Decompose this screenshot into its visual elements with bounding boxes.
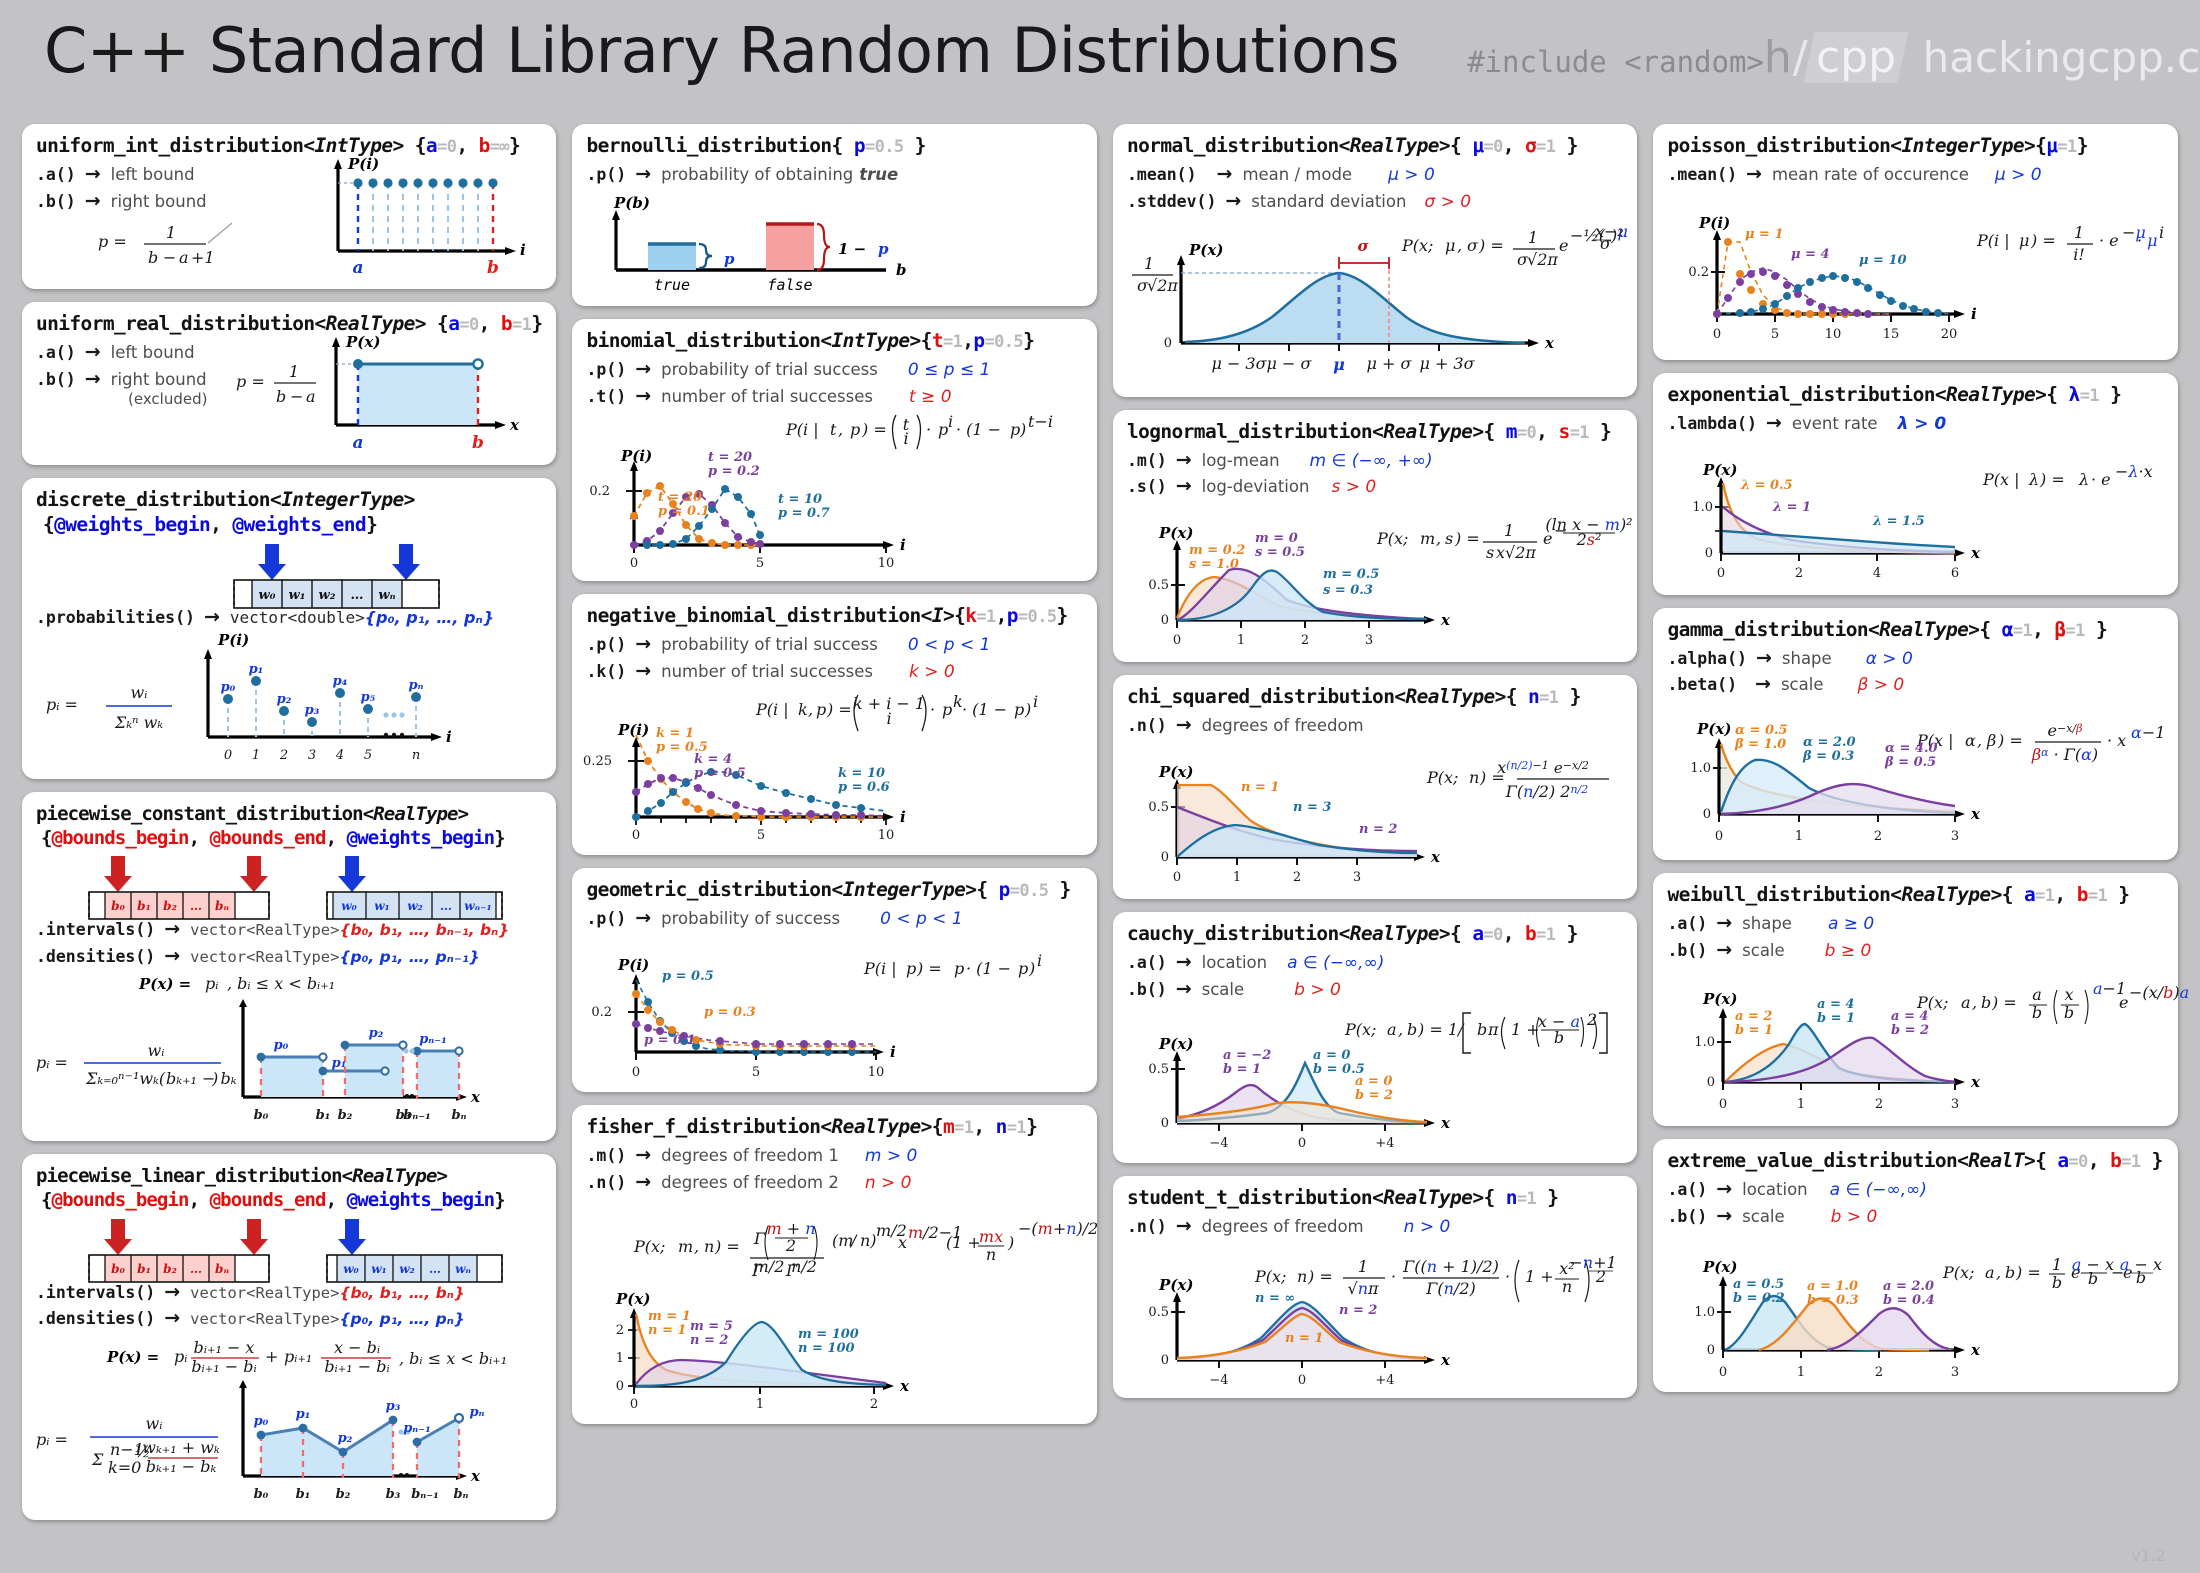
svg-text:P(x;: P(x;	[1254, 1267, 1286, 1286]
svg-text:t−i: t−i	[1028, 412, 1053, 431]
svg-text:wᵢ: wᵢ	[146, 1414, 163, 1433]
svg-text:) =: ) =	[2030, 231, 2056, 250]
card-uniform-real-distribution: uniform_real_distribution<RealType> {a=0…	[22, 302, 556, 465]
include-directive: #include <random>	[1467, 45, 1764, 79]
svg-text:true: true	[654, 276, 690, 294]
svg-text:p: p	[938, 420, 948, 439]
chart-binomial: P(i | t , p ) = t i · p i · (1 − p ) t−i	[586, 411, 1066, 571]
svg-text:b: b	[2032, 1003, 2042, 1022]
svg-text:k = 4: k = 4	[694, 752, 732, 767]
svg-text:0: 0	[1713, 327, 1721, 342]
chart-exponential: P(x | λ ) = λ · e −λ·x P(x) x 0 1.0	[1667, 439, 2152, 585]
card-weibull-distribution: weibull_distribution<RealType>{ a=1, b=1…	[1653, 873, 2178, 1126]
svg-text:x: x	[1430, 848, 1441, 866]
svg-text:1: 1	[289, 362, 299, 381]
svg-text:+: +	[265, 1347, 278, 1366]
svg-text:x − bᵢ: x − bᵢ	[334, 1338, 380, 1357]
svg-text:1: 1	[1144, 254, 1154, 273]
svg-text:1: 1	[1795, 829, 1803, 844]
svg-text:α = 4.0: α = 4.0	[1885, 741, 1938, 756]
svg-text:pᵢ =: pᵢ =	[36, 1430, 68, 1449]
svg-text:i: i	[1037, 951, 1042, 970]
svg-text:b₃: b₃	[386, 1487, 401, 1502]
svg-text:…: …	[440, 899, 452, 913]
svg-text:pᵢ: pᵢ	[174, 1347, 187, 1366]
svg-text:b: b	[148, 248, 158, 267]
svg-text:0: 0	[1717, 566, 1725, 581]
svg-text:μ: μ	[1333, 355, 1345, 374]
card-normal-distribution: normal_distribution<RealType>{ μ=0, σ=1 …	[1113, 124, 1638, 397]
card-student-t-distribution: student_t_distribution<RealType>{ n=1 } …	[1113, 1176, 1638, 1398]
svg-text:a = 4: a = 4	[1891, 1009, 1928, 1024]
svg-text:pᵢ =: pᵢ =	[36, 1053, 68, 1072]
svg-text:p₁: p₁	[249, 662, 264, 677]
svg-text:,: ,	[1977, 731, 1982, 750]
svg-text:λ: λ	[2078, 470, 2089, 489]
svg-text:k: k	[798, 700, 808, 719]
svg-text:x: x	[470, 1467, 481, 1485]
svg-text:P(i |: P(i |	[863, 959, 897, 978]
chart-cauchy: P(x; a , b ) = 1/ b π 1 + x − a b 2	[1127, 1001, 1612, 1153]
svg-text:p =: p =	[98, 232, 127, 251]
svg-text:5: 5	[364, 748, 372, 763]
chart-normal: P(x; μ , σ ) = 1 σ √2π e −½( x−μ σ )² P(…	[1127, 217, 1612, 387]
card-chi-squared-distribution: chi_squared_distribution<RealType>{ n=1 …	[1113, 675, 1638, 899]
svg-text:−λ·x: −λ·x	[2115, 462, 2153, 481]
svg-text:P(x) =: P(x) =	[138, 975, 191, 993]
svg-text:σ: σ	[1467, 236, 1479, 255]
svg-text:w₀: w₀	[343, 1262, 359, 1276]
svg-text:,: ,	[1457, 236, 1462, 255]
chart-uniform-real: P(x) x a b	[316, 337, 526, 455]
version-label: v1.2	[2131, 1546, 2166, 1565]
svg-text:P(x;: P(x;	[1376, 529, 1408, 548]
svg-text:) =: ) =	[1478, 236, 1504, 255]
svg-text:P(x): P(x)	[1158, 1276, 1193, 1294]
svg-text:a = 1.0: a = 1.0	[1807, 1279, 1858, 1294]
svg-text:,: ,	[838, 420, 843, 439]
svg-text:0: 0	[1173, 870, 1181, 885]
chart-negative-binomial: P(i | k , p ) = k + i − 1 i · p k · (1 −…	[586, 687, 1066, 845]
svg-text:Γ: Γ	[753, 1229, 766, 1248]
svg-text:k = 1: k = 1	[656, 726, 694, 741]
svg-text:μ + 3σ: μ + 3σ	[1419, 354, 1475, 373]
svg-text:…: …	[429, 1262, 441, 1276]
svg-text:0: 0	[630, 1397, 638, 1412]
svg-text:·: ·	[1505, 1267, 1510, 1286]
svg-text:w₂: w₂	[319, 588, 336, 603]
svg-text:b₂: b₂	[338, 1108, 353, 1123]
svg-text:· μ: · μ	[2137, 231, 2158, 250]
svg-text:2: 2	[1301, 633, 1309, 648]
chart-student-t: P(x; n ) = 1 √nπ · Γ((n + 1)/2) Γ(n/2) ·…	[1127, 1238, 1612, 1388]
svg-text:P(x;: P(x;	[1426, 768, 1458, 787]
svg-text:0: 0	[1298, 1373, 1306, 1388]
svg-text:i: i	[900, 536, 906, 554]
chart-gamma: P(x | α , β ) = e−x/β βα · Γ(α) · x α−1 …	[1667, 700, 2152, 850]
svg-text:−4: −4	[1209, 1373, 1228, 1388]
chart-lognormal: P(x; m , s ) = 1 s x√2π e − (ln x − m)² …	[1127, 502, 1612, 652]
svg-text:3: 3	[1353, 870, 1361, 885]
svg-text:x: x	[1440, 1351, 1451, 1369]
svg-text:p = 0.5: p = 0.5	[662, 969, 714, 984]
svg-text:,: ,	[694, 1237, 699, 1256]
svg-text:k = 10: k = 10	[838, 766, 885, 781]
svg-text:n: n	[986, 1245, 996, 1264]
svg-text:0.5: 0.5	[1148, 800, 1169, 815]
svg-text:P(x) =: P(x) =	[106, 1348, 159, 1366]
svg-text:Σₖⁿ wₖ: Σₖⁿ wₖ	[114, 713, 163, 732]
svg-text:20: 20	[1941, 327, 1958, 342]
svg-text:Γ(n/2) 2n/2: Γ(n/2) 2n/2	[1505, 782, 1589, 801]
svg-text:) =: ) =	[1454, 529, 1480, 548]
svg-text:/: /	[849, 1231, 858, 1250]
svg-text:μ: μ	[2019, 231, 2029, 250]
card-gamma-distribution: gamma_distribution<RealType>{ α=1, β=1 }…	[1653, 608, 2178, 861]
svg-text:10: 10	[878, 828, 895, 843]
svg-text:a = 2: a = 2	[1735, 1009, 1772, 1024]
svg-text:1: 1	[1504, 521, 1514, 540]
svg-text:2: 2	[1293, 870, 1301, 885]
logo-h: h	[1764, 32, 1792, 83]
card-bernoulli-distribution: bernoulli_distribution{ p=0.5 } .p()→pro…	[572, 124, 1097, 306]
svg-text:β = 1.0: β = 1.0	[1734, 737, 1786, 752]
svg-text:i: i	[446, 728, 452, 746]
svg-text:bᵢ₊₁ − x: bᵢ₊₁ − x	[194, 1338, 255, 1357]
card-discrete-distribution: discrete_distribution<IntegerType> {@wei…	[22, 478, 556, 779]
svg-text:Γ(n/2): Γ(n/2)	[1425, 1279, 1475, 1298]
svg-text:1 +: 1 +	[1525, 1267, 1554, 1286]
buffer-weights-discrete: w₀ w₁ w₂ … wₙ	[69, 540, 509, 602]
svg-text:p: p	[1010, 420, 1020, 439]
svg-text:n: n	[1297, 1267, 1307, 1286]
svg-text:−(x/b)a: −(x/b)a	[2129, 983, 2189, 1002]
card-extreme-value-distribution: extreme_value_distribution<RealT>{ a=0, …	[1653, 1139, 2178, 1392]
svg-text:x: x	[2065, 985, 2074, 1004]
svg-text:p = 0.2: p = 0.2	[708, 464, 760, 479]
brand-name: hackingcpp.com	[1923, 33, 2200, 82]
svg-text:√nπ: √nπ	[1347, 1279, 1379, 1298]
hcpp-logo: h/cpp	[1764, 32, 1903, 83]
svg-text:−n+1: −n+1	[1569, 1253, 1616, 1272]
card-piecewise-constant-distribution: piecewise_constant_distribution<RealType…	[22, 792, 556, 1141]
svg-text:a = −2: a = −2	[1223, 1048, 1271, 1063]
svg-text:a: a	[1985, 1263, 1995, 1282]
svg-text:2: 2	[1875, 1097, 1883, 1112]
svg-text:p = 0.1: p = 0.1	[644, 1033, 696, 1048]
svg-text:n = ∞: n = ∞	[1255, 1291, 1295, 1306]
chart-fisher-f: P(x) x 0 1 2	[586, 1288, 1056, 1414]
svg-text:b: b	[2064, 1003, 2074, 1022]
chart-geometric: P(i | p ) = p · (1 − p ) i P(i) i 0.2	[586, 934, 1056, 1082]
svg-text:0: 0	[1719, 1097, 1727, 1112]
svg-text:μ = 4: μ = 4	[1791, 247, 1830, 262]
svg-text:b: b	[2052, 1273, 2062, 1292]
svg-text:1: 1	[166, 223, 176, 242]
svg-text:b = 0.4: b = 0.4	[1883, 1293, 1935, 1308]
svg-text:…: …	[190, 1262, 202, 1276]
svg-text:2: 2	[616, 1323, 624, 1338]
svg-text:4: 4	[335, 748, 344, 763]
svg-text:b₂: b₂	[163, 1262, 177, 1276]
svg-text:,: ,	[1398, 1020, 1403, 1039]
svg-text:w₁: w₁	[289, 588, 306, 603]
svg-text:t = 10: t = 10	[778, 492, 822, 507]
svg-text:w₁: w₁	[374, 899, 390, 913]
svg-text:w₂: w₂	[407, 899, 423, 913]
svg-text:n = 100: n = 100	[798, 1341, 855, 1356]
svg-text:i: i	[948, 412, 953, 431]
formula-p-uniform-real: p = 1 b − a	[236, 353, 316, 419]
svg-text:pₙ: pₙ	[408, 678, 423, 693]
svg-text:pₙ₋₁: pₙ₋₁	[419, 1032, 447, 1047]
svg-text:) =: ) =	[826, 700, 852, 719]
chart-weibull: P(x; a , b ) = a b x b a−1 e −(x/b)a	[1667, 966, 2152, 1116]
svg-text:b₂: b₂	[336, 1487, 351, 1502]
svg-text:2: 2	[1874, 829, 1882, 844]
formula-pi-discrete: pᵢ = wᵢ Σₖⁿ wₖ	[36, 652, 176, 762]
svg-text:m = 0.2: m = 0.2	[1189, 543, 1245, 558]
svg-text:(1 +: (1 +	[946, 1233, 981, 1252]
svg-text:n: n	[1469, 768, 1479, 787]
svg-text:wᵢ: wᵢ	[148, 1041, 165, 1060]
svg-text:p: p	[906, 959, 916, 978]
svg-text:1: 1	[2052, 1255, 2062, 1274]
svg-text:pᵢ: pᵢ	[205, 974, 218, 993]
svg-text:P(i |: P(i |	[785, 420, 819, 439]
svg-text:bₙ: bₙ	[453, 1487, 468, 1502]
page-title: C++ Standard Library Random Distribution…	[44, 14, 1399, 87]
svg-text:b₁: b₁	[316, 1108, 331, 1123]
svg-text:e−x/β: e−x/β	[2048, 721, 2083, 740]
svg-text:): )	[1028, 959, 1035, 978]
svg-text:2: 2	[870, 1397, 878, 1412]
svg-text:Σ: Σ	[91, 1450, 104, 1469]
card-negative-binomial-distribution: negative_binomial_distribution<I>{k=1,p=…	[572, 594, 1097, 855]
svg-text:2: 2	[1875, 1365, 1883, 1380]
svg-text:) =: ) =	[714, 1237, 740, 1256]
svg-text:μ = 10: μ = 10	[1859, 253, 1907, 268]
svg-text:a = 0: a = 0	[1313, 1048, 1350, 1063]
card-cauchy-distribution: cauchy_distribution<RealType>{ a=0, b=1 …	[1113, 912, 1638, 1163]
svg-text:p₃: p₃	[305, 703, 320, 718]
svg-text:a: a	[352, 258, 363, 278]
card-binomial-distribution: binomial_distribution<IntType>{t=1,p=0.5…	[572, 319, 1097, 582]
svg-text:b₂: b₂	[163, 899, 177, 913]
svg-text:b = 1: b = 1	[1735, 1023, 1773, 1038]
svg-text:n: n	[704, 1237, 714, 1256]
svg-text:m = 5: m = 5	[690, 1319, 733, 1334]
svg-text:b = 2: b = 2	[1355, 1088, 1393, 1103]
svg-text:) =: ) =	[916, 959, 942, 978]
svg-text:x: x	[1440, 1114, 1451, 1132]
svg-text:P(x;: P(x;	[1401, 236, 1433, 255]
svg-text:0: 0	[1703, 807, 1711, 822]
svg-text:Γ((n + 1)/2): Γ((n + 1)/2)	[1402, 1257, 1499, 1276]
svg-text:,: ,	[1972, 993, 1977, 1012]
svg-text:b: b	[1554, 1028, 1564, 1047]
svg-text:p: p	[1014, 700, 1024, 719]
svg-text:x: x	[898, 1233, 907, 1252]
svg-text:1: 1	[1797, 1097, 1805, 1112]
svg-text:a: a	[179, 248, 189, 267]
svg-text:·: ·	[930, 700, 935, 719]
svg-text:λ = 1.5: λ = 1.5	[1872, 514, 1925, 529]
svg-text:1.0: 1.0	[1691, 761, 1712, 776]
svg-text:1: 1	[1797, 1365, 1805, 1380]
svg-text:s = 1.0: s = 1.0	[1189, 557, 1239, 572]
card-piecewise-linear-distribution: piecewise_linear_distribution<RealType> …	[22, 1154, 556, 1520]
svg-text:10: 10	[868, 1065, 885, 1080]
svg-text:0: 0	[1161, 613, 1169, 628]
svg-text:x: x	[1970, 805, 1981, 823]
card-exponential-distribution: exponential_distribution<RealType>{ λ=1 …	[1653, 373, 2178, 595]
card-poisson-distribution: poisson_distribution<IntegerType>{μ=1} .…	[1653, 124, 2178, 360]
brand-logo[interactable]: h/cpp hackingcpp.com	[1764, 32, 2200, 83]
svg-text:p₂: p₂	[369, 1026, 384, 1041]
svg-text:m/2: m/2	[754, 1257, 785, 1276]
svg-text:5: 5	[1771, 327, 1779, 342]
svg-text:0: 0	[1164, 336, 1172, 351]
svg-text:p = 0.5: p = 0.5	[694, 766, 746, 781]
svg-text:bₙ: bₙ	[215, 1262, 229, 1276]
svg-text:a = 0: a = 0	[1355, 1074, 1392, 1089]
svg-text:b = 1: b = 1	[1223, 1062, 1261, 1077]
svg-text:p₀: p₀	[221, 680, 236, 695]
svg-text:λ: λ	[2028, 470, 2039, 489]
svg-text:P(i): P(i)	[1698, 214, 1730, 232]
svg-text:0.5: 0.5	[1148, 578, 1169, 593]
svg-text:P(x): P(x)	[345, 333, 380, 351]
svg-text:e: e	[1559, 236, 1568, 255]
svg-text:i: i	[1033, 692, 1038, 711]
column-1: uniform_int_distribution<IntType> {a=0, …	[22, 124, 556, 1520]
svg-text:p =: p =	[236, 372, 265, 391]
chart-discrete: P(i) i	[176, 629, 476, 769]
svg-text:−4: −4	[1209, 1136, 1228, 1151]
svg-text:b₁: b₁	[296, 1487, 311, 1502]
svg-text:2s²: 2s²	[1576, 530, 1602, 549]
svg-text:1 −: 1 −	[838, 240, 866, 258]
svg-text:0.5: 0.5	[1148, 1062, 1169, 1077]
svg-text:bₙ: bₙ	[215, 899, 229, 913]
chart-extreme-value: P(x; a , b ) = 1 b e a − x b − e a − x	[1667, 1232, 2152, 1382]
svg-text:bₖ₊₁ − bₖ: bₖ₊₁ − bₖ	[146, 1457, 217, 1476]
svg-text:α = 2.0: α = 2.0	[1803, 735, 1856, 750]
svg-text:6: 6	[1951, 566, 1959, 581]
svg-text:α = 0.5: α = 0.5	[1735, 723, 1788, 738]
svg-text:−: −	[163, 248, 176, 267]
svg-text:5: 5	[757, 828, 765, 843]
svg-text:·: ·	[1391, 1267, 1396, 1286]
svg-text:0: 0	[1719, 1365, 1727, 1380]
svg-text:bᵢ₊₁ − bᵢ: bᵢ₊₁ − bᵢ	[192, 1357, 257, 1376]
svg-text:s = 0.5: s = 0.5	[1255, 545, 1305, 560]
svg-text:t = 20: t = 20	[658, 490, 702, 505]
svg-text:μ: μ	[1445, 236, 1455, 255]
svg-text:P(x): P(x)	[1696, 720, 1731, 738]
svg-text:P(x): P(x)	[1158, 1035, 1193, 1053]
svg-text:wₙ: wₙ	[455, 1262, 471, 1276]
svg-text:b: b	[1407, 1020, 1417, 1039]
svg-text:−: −	[290, 387, 303, 406]
svg-text:b: b	[1981, 993, 1991, 1012]
svg-text:): )	[1019, 420, 1026, 439]
svg-text:β = 0.5: β = 0.5	[1884, 755, 1936, 770]
svg-text:x: x	[1970, 1073, 1981, 1091]
svg-text:) =: ) =	[1307, 1267, 1333, 1286]
svg-text:pₙ₋₁: pₙ₋₁	[403, 1421, 431, 1436]
column-4: poisson_distribution<IntegerType>{μ=1} .…	[1653, 124, 2178, 1392]
svg-text:0: 0	[224, 748, 232, 763]
chart-piecewise-constant: x	[221, 999, 501, 1131]
svg-text:) =: ) =	[2015, 1263, 2041, 1282]
svg-text:a = 2.0: a = 2.0	[1883, 1279, 1934, 1294]
svg-text:wₙ: wₙ	[379, 588, 396, 603]
svg-text:p: p	[850, 420, 860, 439]
chart-chi-squared: P(x; n ) = x(n/2)−1 e−x/2 Γ(n/2) 2n/2 P(…	[1127, 741, 1612, 889]
svg-text:m: m	[678, 1237, 693, 1256]
svg-text:n = 1: n = 1	[1285, 1331, 1323, 1346]
svg-text:x(n/2)−1 e−x/2: x(n/2)−1 e−x/2	[1497, 754, 1589, 777]
svg-text:,: ,	[1996, 1263, 2001, 1282]
svg-text:p: p	[942, 700, 952, 719]
svg-text:i: i	[890, 1043, 896, 1061]
svg-text:1: 1	[616, 1351, 624, 1366]
svg-text:, bᵢ ≤ x < bᵢ₊₁: , bᵢ ≤ x < bᵢ₊₁	[227, 974, 335, 993]
svg-text:P(x |: P(x |	[1982, 470, 2020, 489]
formula-px-piecewise-constant: P(x) = pᵢ , bᵢ ≤ x < bᵢ₊₁	[139, 971, 439, 995]
svg-text:bₙ: bₙ	[451, 1108, 466, 1123]
svg-text:1: 1	[2074, 223, 2084, 242]
svg-text:) =: ) =	[1997, 731, 2023, 750]
svg-text:m = 0: m = 0	[1255, 531, 1298, 546]
svg-text:pᵢ =: pᵢ =	[46, 695, 78, 714]
svg-text:) =: ) =	[861, 420, 887, 439]
column-2: bernoulli_distribution{ p=0.5 } .p()→pro…	[572, 124, 1097, 1424]
page-header: C++ Standard Library Random Distribution…	[22, 14, 2178, 124]
svg-text:1: 1	[1237, 633, 1245, 648]
svg-text:bₙ₋₁: bₙ₋₁	[403, 1108, 431, 1123]
svg-text:μ = 1: μ = 1	[1745, 227, 1784, 242]
svg-text:0: 0	[616, 1379, 624, 1394]
svg-text:i: i	[900, 808, 906, 826]
svg-text:1.0: 1.0	[1695, 1035, 1716, 1050]
svg-text:+4: +4	[1375, 1136, 1394, 1151]
svg-text:√2π: √2π	[1527, 250, 1558, 269]
svg-text:p = 0.3: p = 0.3	[704, 1005, 756, 1020]
svg-text:b: b	[472, 433, 484, 453]
svg-text:+4: +4	[1375, 1373, 1394, 1388]
svg-text:a: a	[1961, 993, 1971, 1012]
svg-text:μ − 3σ: μ − 3σ	[1211, 354, 1267, 373]
svg-text:μ − σ: μ − σ	[1267, 354, 1313, 373]
svg-text:σ: σ	[1357, 237, 1369, 255]
svg-text:a = 0.5: a = 0.5	[1733, 1277, 1784, 1292]
svg-text:0: 0	[1715, 829, 1723, 844]
svg-text:i: i	[887, 709, 892, 728]
svg-text:β = 0.3: β = 0.3	[1802, 749, 1854, 764]
svg-text:0.25: 0.25	[584, 754, 613, 769]
svg-text:s = 0.3: s = 0.3	[1323, 583, 1373, 598]
svg-text:P(i): P(i)	[617, 956, 649, 974]
svg-text:P(x): P(x)	[615, 1290, 650, 1308]
svg-text:p: p	[1018, 959, 1028, 978]
svg-text:√2π: √2π	[1147, 276, 1178, 295]
svg-text:P(x;: P(x;	[1942, 1263, 1974, 1282]
svg-text:t: t	[830, 420, 837, 439]
svg-text:0: 0	[1161, 850, 1169, 865]
